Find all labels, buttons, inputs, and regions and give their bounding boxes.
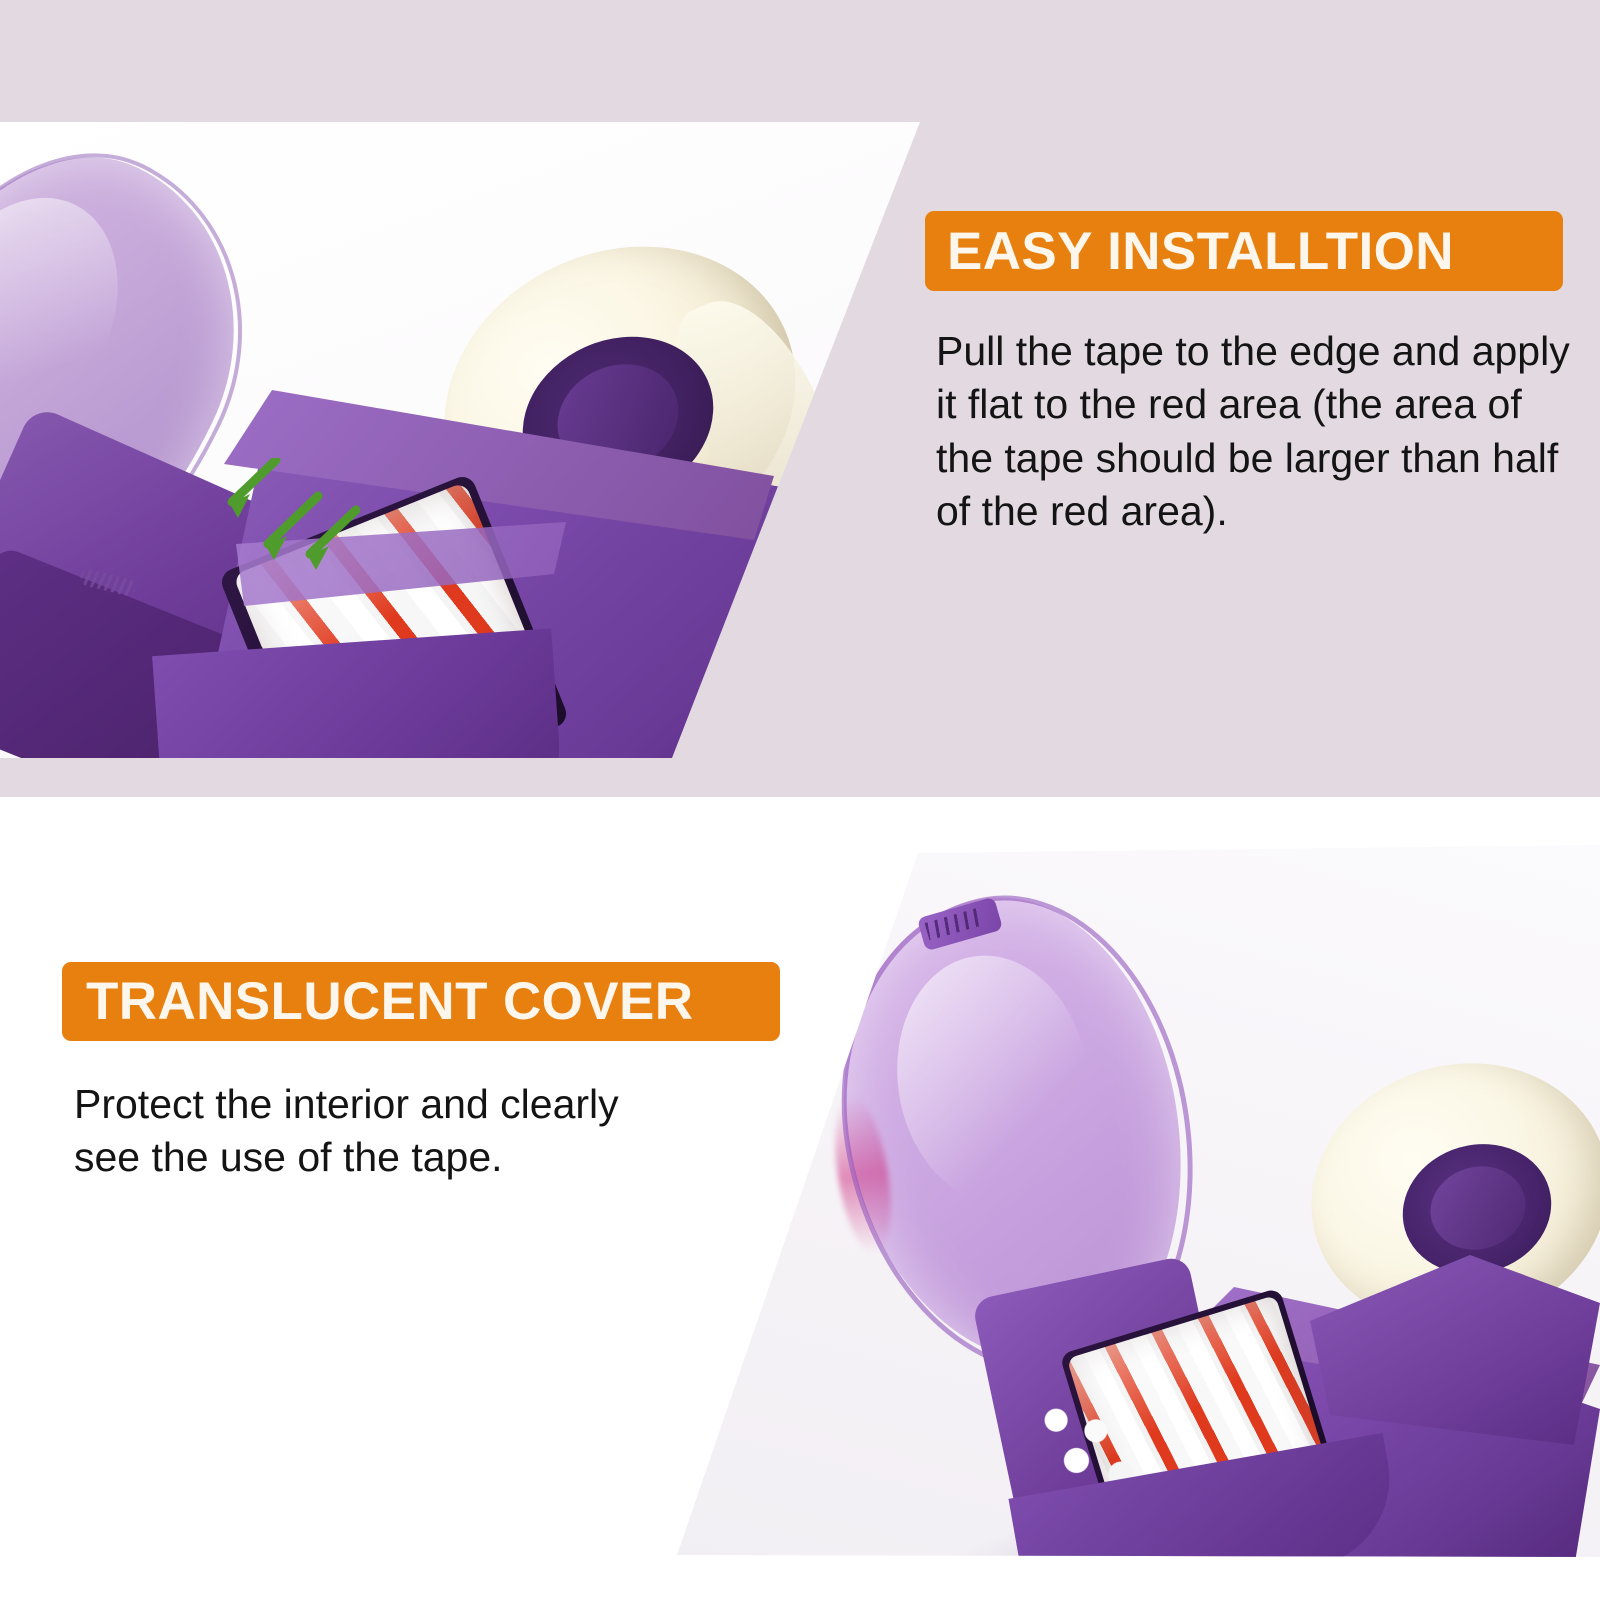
product-feature-infographic: EASY INSTALLTION Pull the tape to the ed… — [0, 0, 1600, 1600]
pull-direction-arrows-icon — [210, 458, 360, 578]
section-easy-installation: EASY INSTALLTION Pull the tape to the ed… — [0, 0, 1600, 797]
description-easy-installation: Pull the tape to the edge and apply it f… — [936, 325, 1576, 538]
badge-translucent-cover: TRANSLUCENT COVER — [62, 962, 780, 1041]
description-translucent-cover: Protect the interior and clearly see the… — [74, 1078, 694, 1185]
product-photo-easy-installation — [0, 122, 960, 758]
badge-easy-installation: EASY INSTALLTION — [925, 211, 1563, 291]
product-photo-translucent-cover — [620, 845, 1600, 1557]
section-translucent-cover: TRANSLUCENT COVER Protect the interior a… — [0, 797, 1600, 1600]
